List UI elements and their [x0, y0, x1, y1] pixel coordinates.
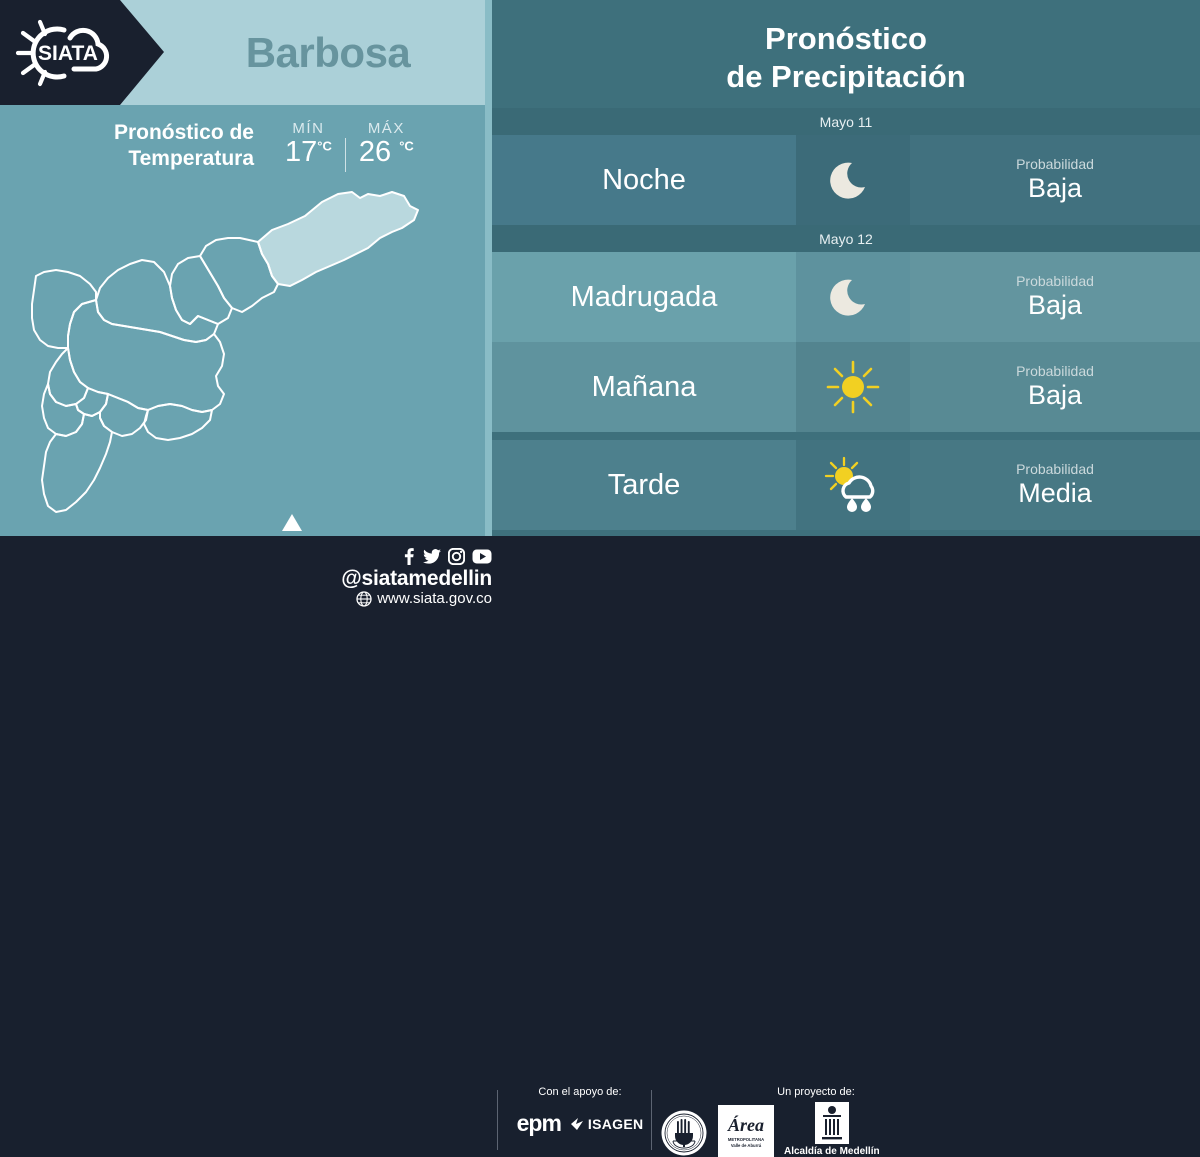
temperature-max-value: 26: [359, 136, 391, 168]
city-banner: SIATA Barbosa: [0, 0, 492, 105]
left-panel: SIATA Barbosa Pronóstico de Temperatura …: [0, 0, 492, 536]
map-region-northwest: [32, 270, 96, 348]
probability-value-noche: Baja: [1028, 173, 1082, 203]
social-block: @siatamedellin www.siata.gov.co: [300, 548, 492, 608]
support-caption: Con el apoyo de:: [510, 1086, 650, 1098]
udea-seal-icon: [660, 1109, 708, 1157]
instagram-icon[interactable]: [448, 548, 465, 565]
globe-icon: [356, 591, 372, 607]
forecast-icon-cell-manana: [796, 342, 910, 432]
probability-value-tarde: Media: [1018, 478, 1092, 508]
moon-icon: [827, 154, 879, 206]
map-region-caldas: [42, 412, 112, 512]
project-logos: Área METROPOLITANA Valle de Aburrá: [660, 1102, 960, 1157]
support-logos: epm ISAGEN: [510, 1110, 650, 1137]
temperature-max-unit: °C: [399, 138, 414, 153]
temperature-max-label: MÁX: [359, 120, 414, 137]
alcaldia-logo: Alcaldía de Medellín: [784, 1102, 880, 1157]
forecast-row-manana: Mañana Probabili: [492, 342, 1200, 432]
temperature-min-label: MÍN: [285, 120, 332, 137]
forecast-row-tarde: Tarde Probabilidad: [492, 440, 1200, 530]
support-block: Con el apoyo de: epm ISAGEN: [510, 1086, 650, 1137]
forecast-period-manana: Mañana: [492, 342, 796, 432]
footer-divider-1: [497, 1090, 498, 1150]
sun-icon: [825, 359, 881, 415]
area-line1: METROPOLITANA: [728, 1137, 764, 1142]
probability-label-noche: Probabilidad: [1016, 157, 1094, 173]
website-text: www.siata.gov.co: [377, 590, 492, 608]
forecast-probability-noche: Probabilidad Baja: [910, 135, 1200, 225]
valle-de-aburra-map: N: [0, 180, 492, 536]
forecast-icon-cell-tarde: [796, 440, 910, 530]
probability-label-tarde: Probabilidad: [1016, 462, 1094, 478]
forecast-icon-cell-madrugada: [796, 252, 910, 342]
map-region-bello: [96, 260, 218, 342]
area-script-text: Área: [728, 1116, 764, 1134]
forecast-row-madrugada: Madrugada Probabilidad Baja: [492, 252, 1200, 342]
footer: @siatamedellin www.siata.gov.co Con el a…: [0, 536, 1200, 630]
date-bar-1: Mayo 11: [492, 108, 1200, 135]
isagen-text: ISAGEN: [588, 1116, 643, 1132]
project-block: Un proyecto de:: [660, 1086, 960, 1157]
map-region-envigado: [100, 394, 148, 436]
isagen-mark-icon: [571, 1117, 586, 1131]
forecast-title-line1: Pronóstico: [765, 20, 927, 58]
facebook-icon[interactable]: [401, 548, 416, 565]
forecast-period-tarde: Tarde: [492, 440, 796, 530]
sun-rain-cloud-icon: [821, 456, 885, 514]
forecast-period-madrugada: Madrugada: [492, 252, 796, 342]
area-line2: Valle de Aburrá: [731, 1143, 761, 1148]
project-caption: Un proyecto de:: [716, 1086, 916, 1098]
temperature-max-value-wrap: 26 °C: [359, 138, 414, 167]
probability-value-manana: Baja: [1028, 380, 1082, 410]
website-row[interactable]: www.siata.gov.co: [356, 590, 492, 608]
map-svg: [0, 180, 492, 536]
temperature-min-value: 17: [285, 136, 317, 168]
forecast-row-noche: Noche Probabilidad Baja: [492, 135, 1200, 225]
epm-logo: epm: [517, 1110, 561, 1137]
date-bar-2: Mayo 12: [492, 225, 1200, 252]
weather-forecast-card: SIATA Barbosa Pronóstico de Temperatura …: [0, 0, 1200, 630]
siata-logo-icon: SIATA: [12, 14, 124, 92]
twitter-icon[interactable]: [423, 548, 441, 565]
forecast-title-line2: de Precipitación: [726, 58, 965, 96]
social-handle[interactable]: @siatamedellin: [341, 567, 492, 590]
moon-icon: [827, 271, 879, 323]
probability-label-manana: Probabilidad: [1016, 364, 1094, 380]
forecast-icon-cell-noche: [796, 135, 910, 225]
youtube-icon[interactable]: [472, 549, 492, 564]
area-sub-text: METROPOLITANA Valle de Aburrá: [728, 1137, 764, 1148]
city-title: Barbosa: [164, 0, 492, 105]
map-region-itagui: [48, 348, 88, 406]
forecast-title: Pronóstico de Precipitación: [492, 10, 1200, 105]
forecast-probability-madrugada: Probabilidad Baja: [910, 252, 1200, 342]
temperature-title-line1: Pronóstico de: [114, 121, 254, 144]
forecast-probability-manana: Probabilidad Baja: [910, 342, 1200, 432]
temperature-title: Pronóstico de Temperatura: [0, 120, 272, 171]
temperature-min: MÍN 17°C: [272, 120, 345, 167]
alcaldia-text: Alcaldía de Medellín: [784, 1146, 880, 1157]
forecast-probability-tarde: Probabilidad Media: [910, 440, 1200, 530]
temperature-title-line2: Temperatura: [128, 147, 254, 170]
map-region-barbosa: [258, 192, 418, 286]
temperature-min-value-wrap: 17°C: [285, 138, 332, 167]
brand-chevron: SIATA: [0, 0, 164, 105]
temperature-block: Pronóstico de Temperatura MÍN 17°C MÁX 2…: [0, 105, 492, 187]
isagen-logo: ISAGEN: [571, 1116, 643, 1132]
temperature-values: MÍN 17°C MÁX 26 °C: [272, 120, 427, 172]
probability-value-madrugada: Baja: [1028, 290, 1082, 320]
probability-label-madrugada: Probabilidad: [1016, 274, 1094, 290]
footer-divider-2: [651, 1090, 652, 1150]
alcaldia-crest-icon: [815, 1102, 849, 1144]
map-region-southcentral: [144, 404, 212, 440]
forecast-period-noche: Noche: [492, 135, 796, 225]
social-icons: [401, 548, 492, 565]
precipitation-panel: Pronóstico de Precipitación Mayo 11 Noch…: [492, 0, 1200, 536]
panel-divider: [485, 0, 492, 536]
siata-logo-text: SIATA: [38, 42, 98, 65]
area-metropolitana-logo: Área METROPOLITANA Valle de Aburrá: [718, 1105, 774, 1157]
temperature-min-unit: °C: [317, 138, 332, 153]
temperature-max: MÁX 26 °C: [346, 120, 427, 167]
